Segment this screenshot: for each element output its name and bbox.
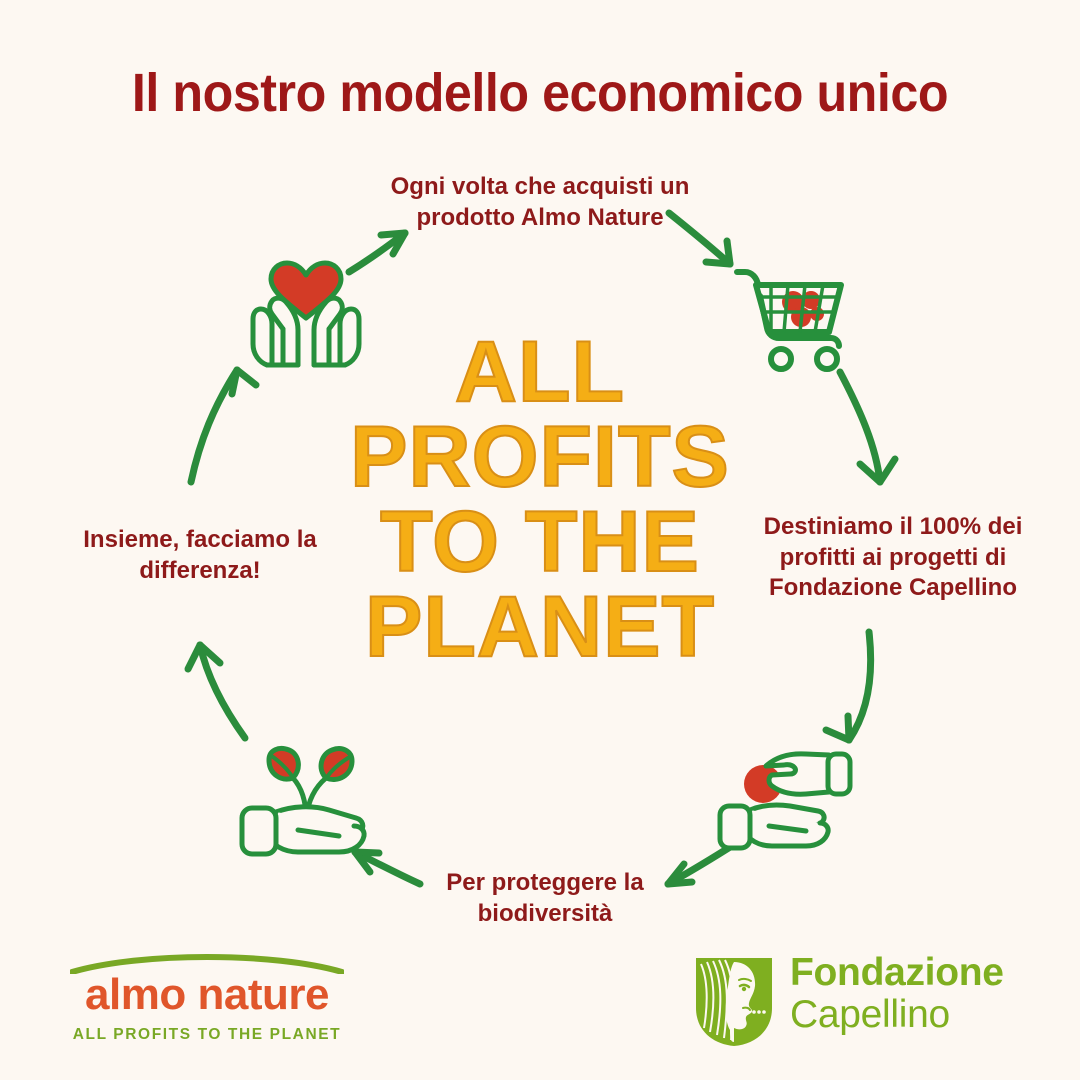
step-caption-together: Insieme, facciamo la differenza!	[60, 525, 340, 586]
hand-holding-sprout-icon	[236, 740, 378, 860]
arrow-profits-to-donation	[826, 632, 871, 740]
wordmark-line-1: ALL	[320, 330, 760, 415]
almo-nature-wordmark: almo nature	[62, 970, 352, 1020]
fondazione-capellino-emblem-icon	[694, 956, 774, 1048]
wordmark-line-2: PROFITS	[320, 415, 760, 500]
step-caption-profits: Destiniamo il 100% dei profitti ai proge…	[738, 512, 1048, 604]
almo-nature-tagline: ALL PROFITS TO THE PLANET	[62, 1026, 352, 1044]
arrow-to-purchase	[191, 370, 256, 482]
arrow-cart-to-profits	[840, 372, 895, 482]
step-caption-purchase: Ogni volta che acquisti un prodotto Almo…	[390, 172, 690, 233]
hand-giving-coin-icon	[714, 748, 858, 860]
hands-holding-heart-icon	[243, 252, 369, 374]
center-wordmark: ALL PROFITS TO THE PLANET	[320, 330, 760, 671]
fondazione-line-1: Fondazione	[790, 952, 1004, 994]
step-caption-biodiversity: Per proteggere la biodiversità	[400, 868, 690, 929]
infographic-canvas: Il nostro modello economico unico	[0, 0, 1080, 1080]
fondazione-line-2: Capellino	[790, 994, 1004, 1036]
fondazione-capellino-wordmark: Fondazione Capellino	[790, 952, 1004, 1036]
shopping-cart-icon	[731, 262, 847, 374]
page-title: Il nostro modello economico unico	[38, 62, 1042, 124]
wordmark-line-4: PLANET	[320, 585, 760, 670]
arrow-sprout-to-together	[188, 645, 245, 738]
almo-nature-logo: almo nature ALL PROFITS TO THE PLANET	[62, 952, 352, 1048]
fondazione-capellino-logo: Fondazione Capellino	[694, 952, 1044, 1052]
wordmark-line-3: TO THE	[320, 500, 760, 585]
